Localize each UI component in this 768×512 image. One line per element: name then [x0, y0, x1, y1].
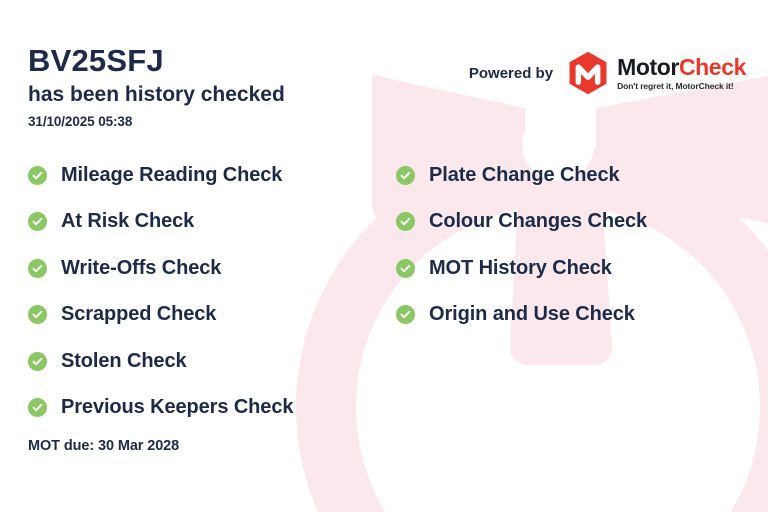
powered-by-label: Powered by [469, 65, 553, 82]
green-check-circle-icon [28, 259, 47, 278]
check-item: Mileage Reading Check [28, 152, 388, 199]
brand-word-motor: Motor [617, 54, 679, 80]
page-title: has been history checked [28, 82, 285, 107]
check-item: MOT History Check [396, 245, 740, 292]
brand-word-check: Check [679, 54, 746, 80]
green-check-circle-icon [28, 305, 47, 324]
check-item: Scrapped Check [28, 292, 388, 339]
check-item: At Risk Check [28, 199, 388, 246]
check-item-label: Write-Offs Check [61, 257, 221, 280]
check-item: Write-Offs Check [28, 245, 388, 292]
green-check-circle-icon [28, 212, 47, 231]
check-item-label: Scrapped Check [61, 303, 216, 326]
check-item: Stolen Check [28, 338, 388, 385]
check-item: Origin and Use Check [396, 292, 740, 339]
vehicle-history-check-card: BV25SFJ has been history checked 31/10/2… [0, 0, 768, 512]
green-check-circle-icon [396, 212, 415, 231]
motorcheck-logo[interactable]: MotorCheck Don't regret it, MotorCheck i… [567, 52, 746, 94]
mot-due-text: MOT due: 30 Mar 2028 [28, 438, 179, 454]
check-item-label: Previous Keepers Check [61, 396, 293, 419]
check-item: Colour Changes Check [396, 199, 740, 246]
check-item-label: Plate Change Check [429, 164, 620, 187]
vehicle-summary-header: BV25SFJ has been history checked 31/10/2… [28, 44, 285, 129]
green-check-circle-icon [396, 305, 415, 324]
motorcheck-hexagon-m-check-icon [567, 52, 609, 94]
check-item-label: Mileage Reading Check [61, 164, 282, 187]
powered-by-block: Powered by MotorCheck Don't regret it, M… [469, 52, 746, 94]
check-item-label: Stolen Check [61, 350, 187, 373]
check-item-label: Colour Changes Check [429, 210, 647, 233]
check-item-label: Origin and Use Check [429, 303, 635, 326]
brand-wordmark: MotorCheck [617, 56, 746, 79]
registration-plate: BV25SFJ [28, 44, 285, 79]
check-item: Plate Change Check [396, 152, 740, 199]
green-check-circle-icon [28, 166, 47, 185]
green-check-circle-icon [396, 166, 415, 185]
brand-tagline: Don't regret it, MotorCheck it! [617, 82, 746, 91]
check-item-label: At Risk Check [61, 210, 194, 233]
check-timestamp: 31/10/2025 05:38 [28, 114, 285, 129]
check-item-label: MOT History Check [429, 257, 612, 280]
check-column-right: Plate Change Check Colour Changes Check … [396, 152, 740, 338]
green-check-circle-icon [28, 398, 47, 417]
green-check-circle-icon [28, 352, 47, 371]
check-column-left: Mileage Reading Check At Risk Check Writ… [28, 152, 388, 431]
check-item: Previous Keepers Check [28, 385, 388, 432]
green-check-circle-icon [396, 259, 415, 278]
